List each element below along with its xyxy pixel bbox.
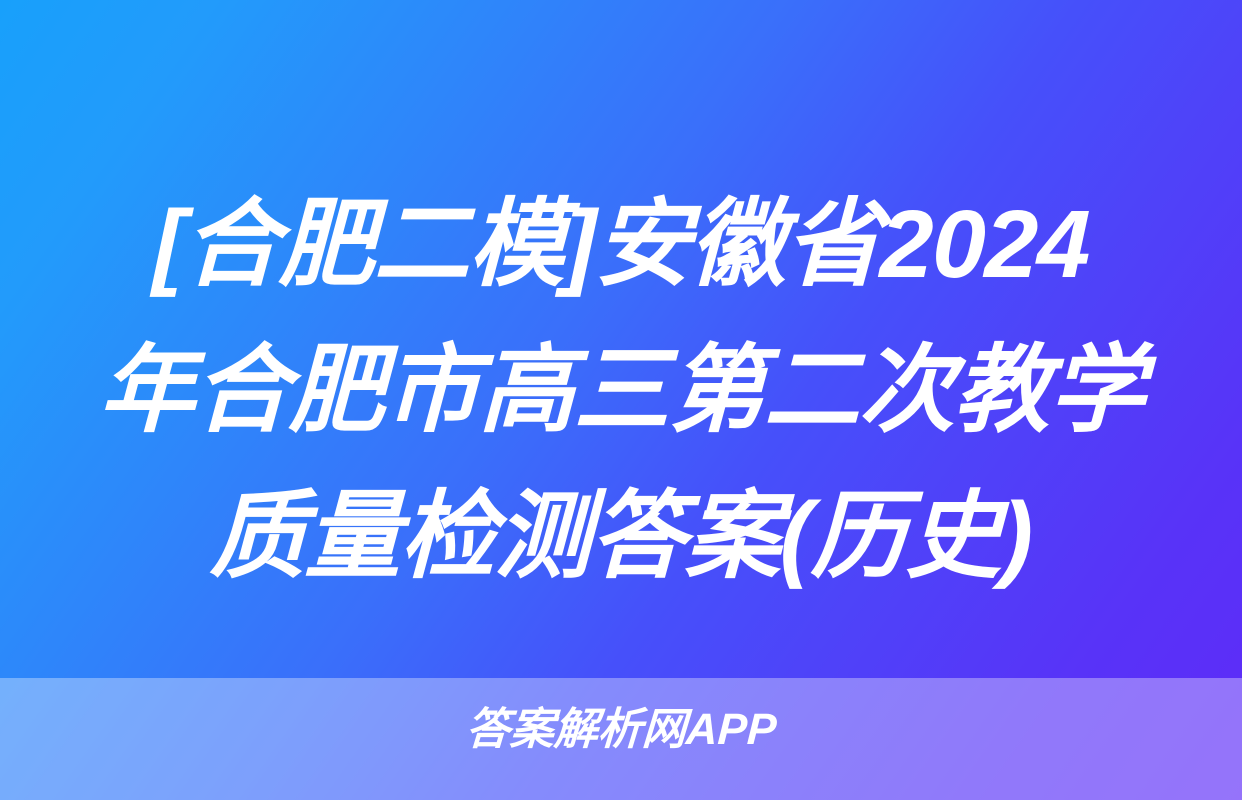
headline-line-2: 年合肥市高三第二次教学 [97,318,1145,464]
watermark-band: 答案解析网APP [0,678,1242,800]
watermark-app-label: 答案解析网APP [464,704,777,756]
headline-line-1: [合肥二模]安徽省2024 [151,172,1090,318]
exam-cover-card: [合肥二模]安徽省2024 年合肥市高三第二次教学 质量检测答案(历史) 答案解… [0,0,1242,800]
headline-line-3: 质量检测答案(历史) [209,464,1033,610]
headline-block: [合肥二模]安徽省2024 年合肥市高三第二次教学 质量检测答案(历史) [0,172,1242,610]
